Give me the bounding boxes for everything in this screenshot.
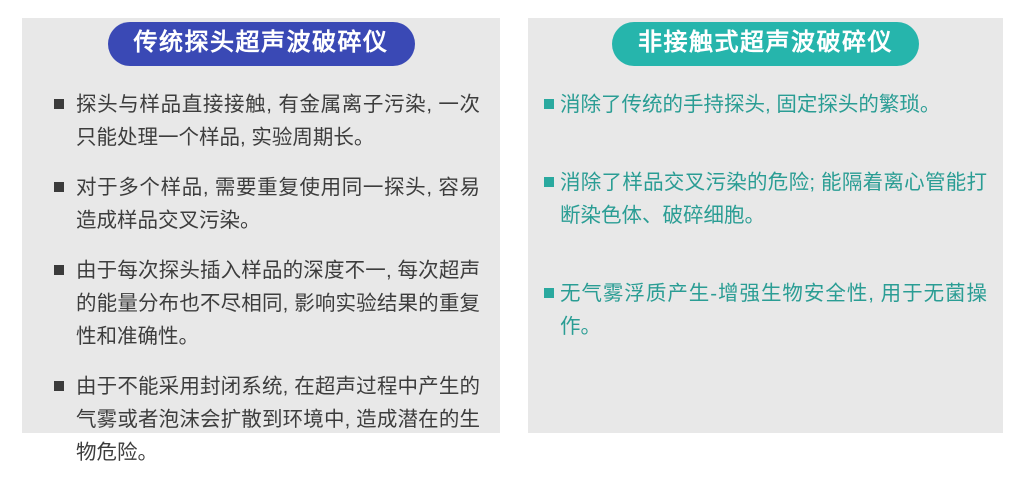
list-item: 消除了样品交叉污染的危险; 能隔着离心管能打断染色体、破碎细胞。: [536, 166, 987, 232]
list-item-text: 由于不能采用封闭系统, 在超声过程中产生的气雾或者泡沫会扩散到环境中, 造成潜在…: [76, 370, 480, 469]
square-bullet-icon: [54, 182, 64, 192]
left-panel-title-badge: 传统探头超声波破碎仪: [108, 22, 415, 66]
list-item: 由于每次探头插入样品的深度不一, 每次超声的能量分布也不尽相同, 影响实验结果的…: [36, 254, 480, 353]
right-comparison-panel: 非接触式超声波破碎仪 消除了传统的手持探头, 固定探头的繁琐。 消除了样品交叉污…: [528, 18, 1003, 433]
list-item-text: 由于每次探头插入样品的深度不一, 每次超声的能量分布也不尽相同, 影响实验结果的…: [76, 254, 480, 353]
square-bullet-icon: [544, 177, 554, 187]
list-item: 由于不能采用封闭系统, 在超声过程中产生的气雾或者泡沫会扩散到环境中, 造成潜在…: [36, 370, 480, 469]
comparison-infographic: 传统探头超声波破碎仪 探头与样品直接接触, 有金属离子污染, 一次只能处理一个样…: [0, 0, 1024, 456]
right-panel-header: 非接触式超声波破碎仪: [528, 22, 1003, 66]
right-panel-title-badge: 非接触式超声波破碎仪: [612, 22, 919, 66]
list-item: 消除了传统的手持探头, 固定探头的繁琐。: [536, 88, 987, 121]
square-bullet-icon: [544, 99, 554, 109]
list-item-text: 探头与样品直接接触, 有金属离子污染, 一次只能处理一个样品, 实验周期长。: [76, 88, 480, 154]
list-item: 无气雾浮质产生-增强生物安全性, 用于无菌操作。: [536, 277, 987, 343]
list-item-text: 消除了传统的手持探头, 固定探头的繁琐。: [560, 88, 987, 121]
square-bullet-icon: [54, 381, 64, 391]
left-comparison-panel: 传统探头超声波破碎仪 探头与样品直接接触, 有金属离子污染, 一次只能处理一个样…: [22, 18, 500, 433]
list-item: 对于多个样品, 需要重复使用同一探头, 容易造成样品交叉污染。: [36, 171, 480, 237]
list-item-text: 对于多个样品, 需要重复使用同一探头, 容易造成样品交叉污染。: [76, 171, 480, 237]
square-bullet-icon: [544, 288, 554, 298]
left-panel-bullet-list: 探头与样品直接接触, 有金属离子污染, 一次只能处理一个样品, 实验周期长。 对…: [22, 88, 500, 486]
list-item: 探头与样品直接接触, 有金属离子污染, 一次只能处理一个样品, 实验周期长。: [36, 88, 480, 154]
square-bullet-icon: [54, 99, 64, 109]
left-panel-header: 传统探头超声波破碎仪: [22, 22, 500, 66]
square-bullet-icon: [54, 265, 64, 275]
right-panel-bullet-list: 消除了传统的手持探头, 固定探头的繁琐。 消除了样品交叉污染的危险; 能隔着离心…: [528, 88, 1003, 388]
list-item-text: 无气雾浮质产生-增强生物安全性, 用于无菌操作。: [560, 277, 987, 343]
list-item-text: 消除了样品交叉污染的危险; 能隔着离心管能打断染色体、破碎细胞。: [560, 166, 987, 232]
